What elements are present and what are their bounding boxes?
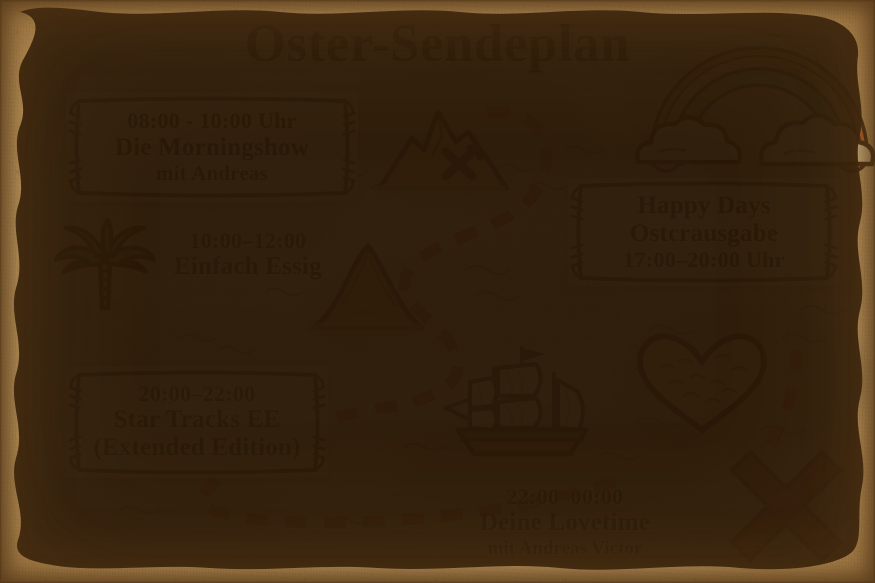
schedule-block-deine-lovetime: 22:00–00:00 Deine Lovetime mit Andreas V… xyxy=(440,484,690,559)
schedule-time: 22:00–00:00 xyxy=(440,484,690,509)
schedule-host: (Extended Edition) xyxy=(93,434,300,462)
schedule-show: Deine Lovetime xyxy=(440,509,690,538)
pirate-ship-icon xyxy=(444,334,596,458)
schedule-time: 20:00–22:00 xyxy=(139,382,256,407)
schedule-show: Die Morningshow xyxy=(115,134,309,162)
schedule-time: 08:00 - 10:00 Uhr xyxy=(127,109,296,134)
heart-island-icon xyxy=(632,326,772,436)
schedule-show: Einfach Essig xyxy=(142,253,354,282)
cloud-icon xyxy=(637,117,740,162)
schedule-block-einfach-essig: 10:00–12:00 Einfach Essig xyxy=(142,228,354,282)
schedule-show: Happy Days xyxy=(637,192,770,220)
schedule-host: mit Andreas xyxy=(156,162,268,186)
schedule-host: Ostcrausgabe xyxy=(630,220,778,248)
treasure-x-icon xyxy=(732,452,840,560)
schedule-time: 17:00–20:00 Uhr xyxy=(623,248,785,273)
schedule-show: Star Tracks EE xyxy=(114,406,281,434)
treasure-map-poster: Oster-Sendeplan xyxy=(0,0,875,583)
schedule-host: mit Andreas Victor xyxy=(440,538,690,560)
schedule-time: 10:00–12:00 xyxy=(142,228,354,253)
schedule-scroll-happy-days: Happy Days Ostcrausgabe 17:00–20:00 Uhr xyxy=(568,178,840,286)
mountain-with-pickaxes-icon xyxy=(372,92,514,196)
schedule-scroll-star-tracks: 20:00–22:00 Star Tracks EE (Extended Edi… xyxy=(66,366,328,478)
schedule-scroll-morningshow: 08:00 - 10:00 Uhr Die Morningshow mit An… xyxy=(66,92,358,202)
rainbow-icon xyxy=(650,58,868,168)
